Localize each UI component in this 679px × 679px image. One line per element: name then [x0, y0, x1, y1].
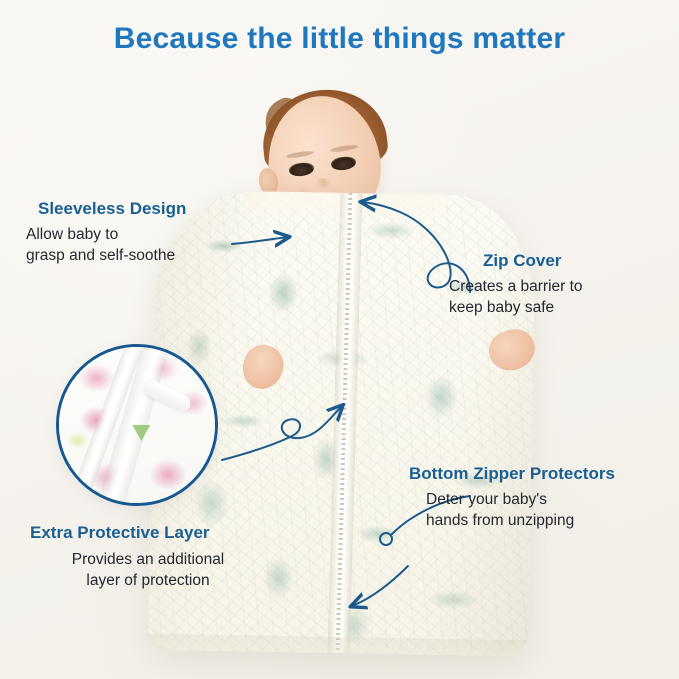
callout-sleeveless-design: Sleeveless Design Allow baby to grasp an…	[38, 198, 186, 266]
callout-body-extra-protective: Provides an additional layer of protecti…	[24, 550, 272, 591]
baby-nose	[316, 178, 331, 190]
callout-body-sleeveless: Allow baby to grasp and self-soothe	[26, 225, 186, 266]
zipper-detail-inset-circle	[56, 344, 218, 506]
callout-body-bottom-zipper: Deter your baby's hands from unzipping	[426, 490, 615, 531]
callout-bottom-zipper-protectors: Bottom Zipper Protectors Deter your baby…	[409, 463, 615, 531]
callout-extra-protective-layer: Extra Protective Layer Provides an addit…	[24, 522, 272, 591]
page-title: Because the little things matter	[0, 22, 679, 56]
callout-zip-cover: Zip Cover Creates a barrier to keep baby…	[449, 250, 583, 318]
callout-title-zip-cover: Zip Cover	[483, 250, 583, 271]
callout-body-zip-cover: Creates a barrier to keep baby safe	[449, 277, 583, 318]
callout-title-extra-protective: Extra Protective Layer	[30, 522, 272, 543]
callout-title-sleeveless: Sleeveless Design	[38, 198, 186, 219]
product-feature-infographic: Because the little things matter Sleevel…	[0, 0, 679, 679]
callout-title-bottom-zipper: Bottom Zipper Protectors	[409, 463, 615, 484]
